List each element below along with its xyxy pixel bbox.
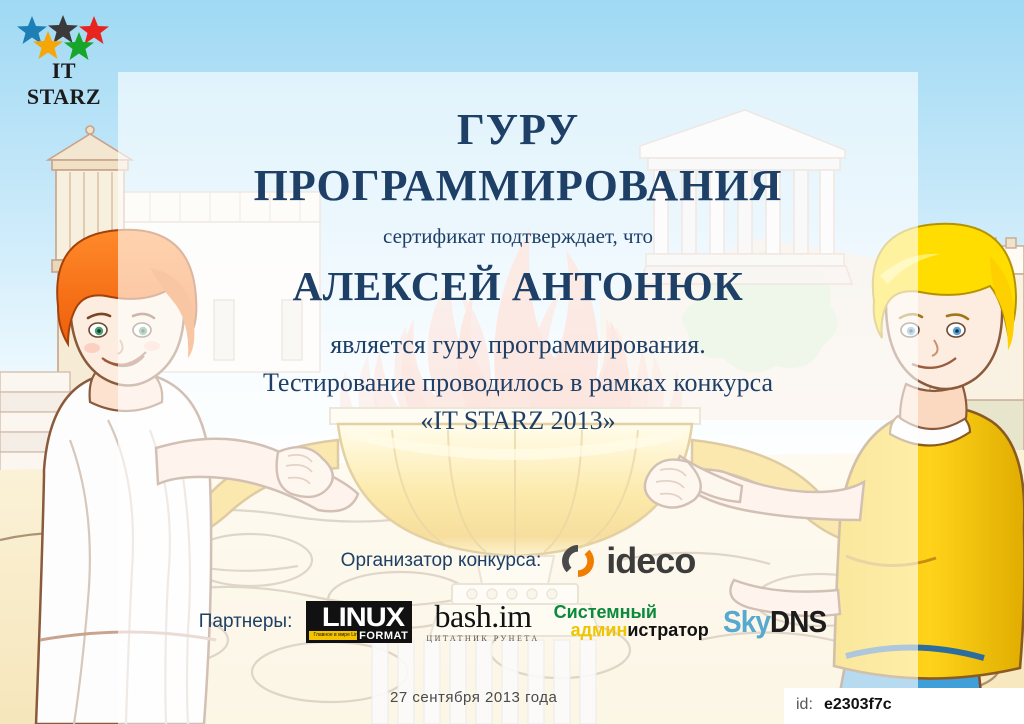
logo-stars (12, 14, 116, 62)
linux-format-line2: FORMAT (357, 630, 410, 642)
linux-format-line1: LINUX (310, 602, 416, 632)
ideco-wordmark: ideco (606, 543, 695, 579)
sysadmin-part2: админ (571, 620, 628, 640)
certificate-id-box: id: e2303f7c (784, 688, 1024, 724)
partner-logo-sysadmin: Системный администратор (554, 602, 709, 642)
issue-date: 27 сентября 2013 года (390, 689, 557, 706)
it-starz-logo: IT STARZ (12, 14, 116, 92)
certificate-id-value: e2303f7c (824, 696, 892, 714)
skydns-part1: Sky (723, 604, 770, 639)
body-line-1: является гуру программирования. (118, 330, 918, 360)
partners-label: Партнеры: (199, 611, 293, 633)
ideco-logo: ideco (559, 542, 695, 580)
recipient-name: АЛЕКСЕЙ АНТОНЮК (118, 262, 918, 310)
body-line-2: Тестирование проводилось в рамках конкур… (118, 368, 918, 398)
organizer-label: Организатор конкурса: (341, 550, 542, 572)
ideco-circle-icon (559, 542, 597, 580)
partner-logo-skydns: SkyDNS (723, 606, 826, 637)
certificate-id-label: id: (796, 696, 813, 714)
certificate-canvas: IT STARZ ГУРУ ПРОГРАММИРОВАНИЯ сертифика… (0, 0, 1024, 724)
sysadmin-part1: Системный (554, 603, 657, 621)
partners-row: Партнеры: LINUX Главное в мире Linux FOR… (118, 600, 918, 643)
bash-im-wordmark: bash.im (435, 600, 532, 632)
body-line-3: «IT STARZ 2013» (118, 406, 918, 436)
confirm-text: сертификат подтверждает, что (118, 224, 918, 249)
partner-logo-bash-im: bash.im ЦИТАТНИК РУНЕТА (426, 600, 539, 643)
skydns-part2: DNS (770, 604, 826, 639)
sysadmin-part3: истратор (627, 620, 708, 640)
title-line-1: ГУРУ (118, 104, 918, 155)
logo-wordmark: IT STARZ (12, 58, 116, 110)
certificate-text: ГУРУ ПРОГРАММИРОВАНИЯ сертификат подтвер… (118, 72, 918, 724)
sysadmin-row2: администратор (571, 621, 709, 639)
organizer-row: Организатор конкурса: ideco (118, 542, 918, 580)
title-line-2: ПРОГРАММИРОВАНИЯ (118, 160, 918, 211)
partner-logo-linux-format: LINUX Главное в мире Linux FORMAT (306, 601, 412, 643)
bash-im-tagline: ЦИТАТНИК РУНЕТА (426, 635, 539, 643)
